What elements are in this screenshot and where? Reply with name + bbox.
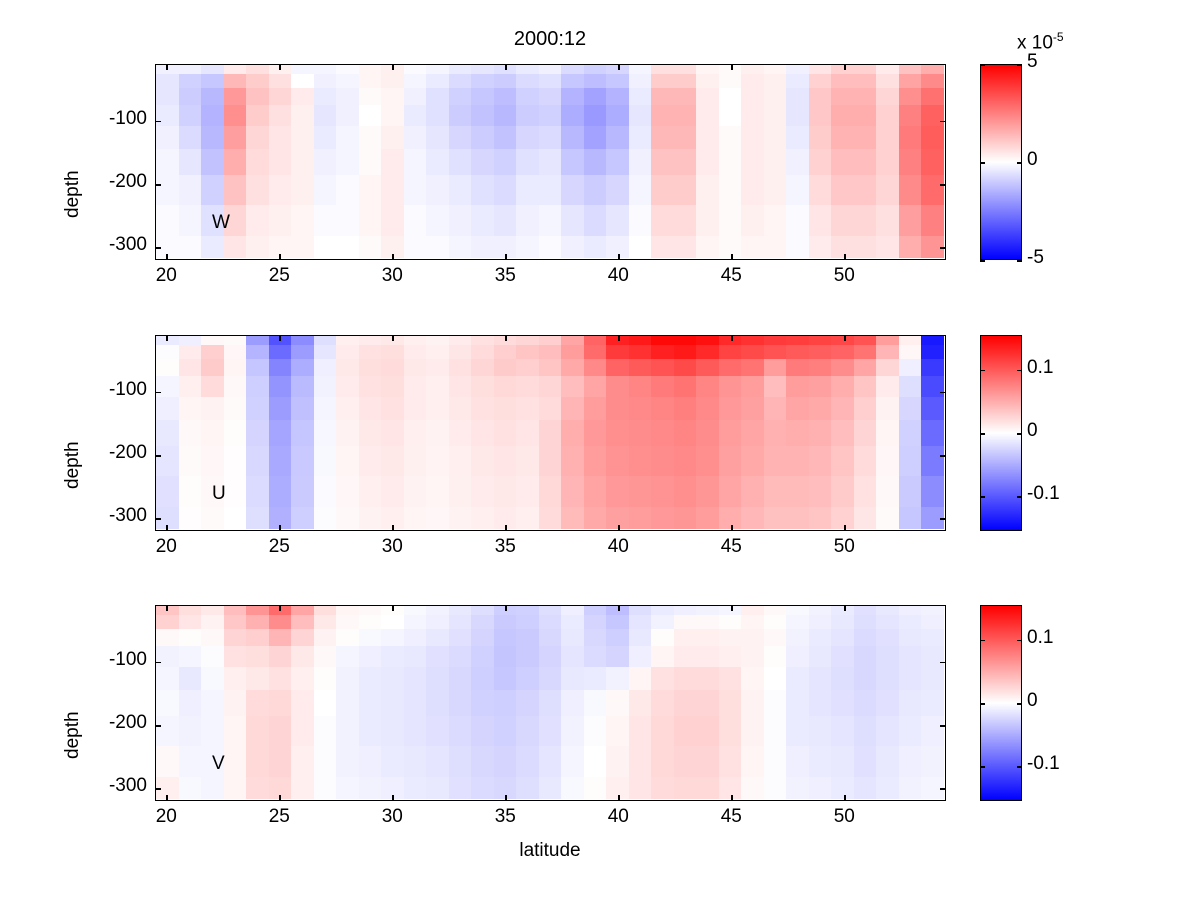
heatmap-cell (449, 359, 472, 377)
heatmap-cell (516, 345, 539, 360)
heatmap-cell (584, 667, 607, 691)
heatmap-cell (561, 646, 584, 667)
heatmap-cell (269, 149, 292, 176)
heatmap-cell (201, 359, 224, 377)
heatmap-cell (629, 446, 652, 476)
heatmap-cell (404, 126, 427, 150)
x-tick-mark (505, 605, 507, 611)
x-tick-mark (392, 525, 394, 531)
heatmap-cell (719, 446, 742, 476)
heatmap-cell (809, 149, 832, 176)
heatmap-cell (156, 175, 179, 205)
heatmap-cell (899, 716, 922, 746)
heatmap-cell (156, 397, 179, 421)
heatmap-cell (764, 507, 787, 529)
heatmap-cell (764, 236, 787, 258)
panel-u-plot-area[interactable]: U (155, 335, 946, 531)
heatmap-cell (179, 716, 202, 746)
heatmap-cell (471, 359, 494, 377)
heatmap-cell (246, 746, 269, 778)
heatmap-cell (449, 376, 472, 397)
heatmap-cell (179, 345, 202, 360)
heatmap-cell (449, 236, 472, 258)
heatmap-cell (336, 690, 359, 717)
heatmap-cell (359, 615, 382, 630)
heatmap-cell (336, 446, 359, 476)
heatmap-cell (786, 629, 809, 647)
heatmap-cell (156, 88, 179, 106)
heatmap-cell (651, 777, 674, 799)
heatmap-cell (359, 126, 382, 150)
colorbar-u[interactable] (980, 335, 1022, 531)
heatmap-cell (269, 205, 292, 237)
heatmap-cell (539, 690, 562, 717)
x-tick-mark (392, 335, 394, 341)
heatmap-cell (246, 646, 269, 667)
heatmap-cell (224, 746, 247, 778)
heatmap-cell (719, 175, 742, 205)
heatmap-cell (719, 345, 742, 360)
heatmap-cell (314, 376, 337, 397)
colorbar-tick-mark (1017, 370, 1022, 372)
heatmap-cell (336, 376, 359, 397)
heatmap-cell (696, 420, 719, 447)
heatmap-cell (719, 476, 742, 508)
heatmap-cell (741, 667, 764, 691)
heatmap-cell (629, 690, 652, 717)
heatmap-cell (831, 690, 854, 717)
heatmap-cell (831, 105, 854, 126)
heatmap-cell (921, 716, 944, 746)
heatmap-cell (696, 88, 719, 106)
heatmap-cell (854, 629, 877, 647)
heatmap-cell (381, 205, 404, 237)
colorbar-tick-mark (1017, 162, 1022, 164)
heatmap-cell (764, 746, 787, 778)
heatmap-cell (741, 777, 764, 799)
heatmap-cell (224, 397, 247, 421)
colorbar-tick-label: 0.1 (1027, 627, 1053, 649)
heatmap-cell (921, 420, 944, 447)
heatmap-cell (314, 149, 337, 176)
x-tick-mark (392, 64, 394, 70)
heatmap-cell (404, 149, 427, 176)
heatmap-cell (494, 376, 517, 397)
heatmap-cell (516, 420, 539, 447)
heatmap-cell (651, 646, 674, 667)
heatmap-cell (899, 175, 922, 205)
heatmap-cell (201, 126, 224, 150)
heatmap-cell (156, 420, 179, 447)
x-tick-label: 50 (804, 536, 884, 558)
heatmap-cell (314, 88, 337, 106)
heatmap-cell (314, 690, 337, 717)
heatmap-cell (606, 126, 629, 150)
y-tick-mark (155, 455, 161, 457)
heatmap-cell (201, 397, 224, 421)
heatmap-cell (584, 345, 607, 360)
heatmap-cell (449, 690, 472, 717)
heatmap-cell (471, 175, 494, 205)
heatmap-cell (179, 476, 202, 508)
heatmap-cell (246, 205, 269, 237)
heatmap-cell (404, 359, 427, 377)
heatmap-cell (359, 74, 382, 89)
heatmap-cell (426, 175, 449, 205)
heatmap-cell (404, 420, 427, 447)
heatmap-cell (854, 420, 877, 447)
heatmap-cell (741, 629, 764, 647)
heatmap-cell (201, 777, 224, 799)
x-tick-mark (505, 254, 507, 260)
heatmap-cell (786, 205, 809, 237)
heatmap-cell (741, 105, 764, 126)
heatmap-cell (741, 359, 764, 377)
heatmap-cell (224, 236, 247, 258)
heatmap-cell (764, 88, 787, 106)
heatmap-cell (719, 716, 742, 746)
heatmap-cell (156, 149, 179, 176)
heatmap-cell (516, 359, 539, 377)
heatmap-cell (404, 205, 427, 237)
colorbar-w[interactable] (980, 64, 1022, 260)
heatmap-cell (426, 446, 449, 476)
heatmap-cell (336, 105, 359, 126)
heatmap-cell (494, 345, 517, 360)
heatmap-cell (674, 615, 697, 630)
heatmap-cell (449, 777, 472, 799)
colorbar-tick-label: 5 (1027, 51, 1038, 73)
heatmap-cell (381, 74, 404, 89)
y-tick-mark (155, 392, 161, 394)
heatmap-cell (224, 345, 247, 360)
heatmap-cell (606, 667, 629, 691)
heatmap-cell (719, 646, 742, 667)
heatmap-cell (629, 746, 652, 778)
heatmap-cell (629, 507, 652, 529)
heatmap-cell (674, 420, 697, 447)
heatmap-cell (584, 476, 607, 508)
heatmap-cell (516, 615, 539, 630)
heatmap-cell (651, 746, 674, 778)
colorbar-tick-mark (1017, 433, 1022, 435)
heatmap-cell (899, 420, 922, 447)
heatmap-cell (696, 446, 719, 476)
heatmap-cell (854, 646, 877, 667)
heatmap-cell (494, 88, 517, 106)
heatmap-cell (314, 205, 337, 237)
heatmap-cell (854, 175, 877, 205)
heatmap-cell (179, 615, 202, 630)
heatmap-cell (696, 205, 719, 237)
heatmap-cell (674, 126, 697, 150)
x-tick-label: 30 (352, 536, 432, 558)
heatmap-cell (314, 420, 337, 447)
heatmap-cell (291, 88, 314, 106)
heatmap-cell (651, 345, 674, 360)
heatmap-cell (494, 615, 517, 630)
heatmap-cell (741, 236, 764, 258)
heatmap-cell (921, 205, 944, 237)
heatmap-cell (674, 175, 697, 205)
y-tick-label: -200 (47, 442, 147, 464)
heatmap-cell (696, 507, 719, 529)
heatmap-cell (809, 446, 832, 476)
colorbar-tick-mark (1017, 260, 1022, 262)
heatmap-cell (786, 359, 809, 377)
heatmap-cell (831, 667, 854, 691)
heatmap-cell (809, 629, 832, 647)
heatmap-cell (786, 646, 809, 667)
heatmap-cell (471, 126, 494, 150)
heatmap-cell (156, 205, 179, 237)
panel-v-plot-area[interactable]: V (155, 605, 946, 801)
heatmap-cell (561, 376, 584, 397)
heatmap-cell (426, 126, 449, 150)
y-tick-label: -300 (47, 234, 147, 256)
heatmap-cell (494, 667, 517, 691)
heatmap-cell (584, 446, 607, 476)
heatmap-cell (336, 74, 359, 89)
heatmap-cell (629, 345, 652, 360)
colorbar-gradient-v (981, 606, 1021, 800)
heatmap-cell (314, 359, 337, 377)
heatmap-cell (224, 716, 247, 746)
heatmap-cell (854, 105, 877, 126)
heatmap-cell (539, 345, 562, 360)
heatmap-cell (584, 629, 607, 647)
heatmap-cell (719, 376, 742, 397)
colorbar-tick-label: 0 (1027, 149, 1038, 171)
heatmap-cell (561, 397, 584, 421)
heatmap-cell (809, 690, 832, 717)
heatmap-cell (314, 105, 337, 126)
heatmap-cell (291, 345, 314, 360)
heatmap-cell (246, 126, 269, 150)
heatmap-cell (921, 345, 944, 360)
heatmap-cell (246, 397, 269, 421)
heatmap-cell (921, 446, 944, 476)
heatmap-cell (651, 615, 674, 630)
heatmap-cell (156, 74, 179, 89)
heatmap-cell (404, 236, 427, 258)
y-tick-mark (155, 518, 161, 520)
heatmap-cell (156, 629, 179, 647)
heatmap-cell (516, 446, 539, 476)
heatmap-cell (539, 149, 562, 176)
heatmap-cell (426, 716, 449, 746)
heatmap-cell (899, 345, 922, 360)
heatmap-cell (921, 175, 944, 205)
heatmap-cell (246, 446, 269, 476)
heatmap-cell (764, 376, 787, 397)
heatmap-cell (246, 690, 269, 717)
heatmap-cell (696, 345, 719, 360)
heatmap-cell (179, 746, 202, 778)
heatmap-cell (561, 690, 584, 717)
heatmap-cell (404, 667, 427, 691)
x-tick-mark (505, 64, 507, 70)
heatmap-cell (876, 345, 899, 360)
heatmap-cell (449, 746, 472, 778)
heatmap-cell (674, 629, 697, 647)
heatmap-cell (629, 126, 652, 150)
colorbar-gradient-u (981, 336, 1021, 530)
heatmap-cell (426, 105, 449, 126)
heatmap-cell (786, 746, 809, 778)
heatmap-cell (786, 690, 809, 717)
heatmap-cell (876, 88, 899, 106)
x-tick-mark (731, 795, 733, 801)
heatmap-cell (764, 397, 787, 421)
heatmap-cell (381, 397, 404, 421)
heatmap-cell (224, 476, 247, 508)
heatmap-cell (876, 646, 899, 667)
heatmap-cell (449, 345, 472, 360)
heatmap-cell (471, 236, 494, 258)
heatmap-cell (651, 359, 674, 377)
figure-canvas: 2000:12 W depth -100-200-300 20253035404… (0, 0, 1200, 900)
heatmap-cell (921, 376, 944, 397)
heatmap-cell (696, 105, 719, 126)
heatmap-cell (336, 716, 359, 746)
heatmap-cell (629, 615, 652, 630)
heatmap-cell (179, 397, 202, 421)
heatmap-cell (584, 126, 607, 150)
panel-label-v: V (212, 753, 225, 775)
heatmap-cell (719, 667, 742, 691)
heatmap-cell (246, 88, 269, 106)
heatmap-cell (516, 74, 539, 89)
heatmap-cell (741, 690, 764, 717)
y-tick-mark (155, 247, 161, 249)
heatmap-cell (291, 74, 314, 89)
heatmap-cell (899, 615, 922, 630)
heatmap-cell (336, 88, 359, 106)
y-tick-mark (940, 121, 946, 123)
heatmap-cell (539, 629, 562, 647)
heatmap-cell (224, 359, 247, 377)
heatmap-cell (156, 746, 179, 778)
x-tick-label: 25 (239, 806, 319, 828)
heatmap-cell (494, 646, 517, 667)
panel-label-u: U (212, 483, 226, 505)
heatmap-cell (539, 777, 562, 799)
heatmap-cell (764, 446, 787, 476)
heatmap-cell (314, 236, 337, 258)
heatmap-cell (269, 476, 292, 508)
heatmap-cell (179, 690, 202, 717)
heatmap-cell (404, 615, 427, 630)
heatmap-cell (606, 446, 629, 476)
x-tick-label: 25 (239, 265, 319, 287)
heatmap-cell (291, 175, 314, 205)
heatmap-cell (381, 476, 404, 508)
panel-label-w: W (212, 212, 230, 234)
heatmap-cell (809, 359, 832, 377)
colorbar-tick-mark (1017, 703, 1022, 705)
heatmap-cell (786, 397, 809, 421)
heatmap-cell (471, 74, 494, 89)
x-tick-mark (731, 525, 733, 531)
heatmap-cell (786, 236, 809, 258)
colorbar-tick-mark (980, 64, 985, 66)
heatmap-cell (674, 446, 697, 476)
heatmap-cell (359, 446, 382, 476)
heatmap-cell (719, 126, 742, 150)
heatmap-cell (921, 126, 944, 150)
heatmap-cell (336, 397, 359, 421)
heatmap-cell (539, 667, 562, 691)
x-tick-label: 35 (465, 265, 545, 287)
heatmap-cell (246, 476, 269, 508)
heatmap-cell (606, 376, 629, 397)
heatmap-cell (809, 126, 832, 150)
heatmap-cell (696, 476, 719, 508)
heatmap-cell (201, 236, 224, 258)
heatmap-cell (224, 376, 247, 397)
heatmap-cell (246, 376, 269, 397)
heatmap-cell (809, 646, 832, 667)
heatmap-cell (876, 397, 899, 421)
heatmap-cell (224, 175, 247, 205)
heatmap-cell (899, 105, 922, 126)
heatmap-cell (314, 507, 337, 529)
heatmap-cell (539, 746, 562, 778)
heatmap-cell (764, 74, 787, 89)
heatmap-cell (921, 359, 944, 377)
heatmap-cell (899, 397, 922, 421)
heatmap-cell (899, 746, 922, 778)
y-tick-label: -300 (47, 775, 147, 797)
heatmap-cell (719, 690, 742, 717)
panel-w-plot-area[interactable]: W (155, 64, 946, 260)
heatmap-cell (246, 507, 269, 529)
heatmap-cell (404, 175, 427, 205)
heatmap-cell (156, 615, 179, 630)
heatmap-cell (561, 667, 584, 691)
heatmap-cell (404, 476, 427, 508)
x-tick-label: 35 (465, 806, 545, 828)
heatmap-cell (336, 236, 359, 258)
heatmap-cell (809, 420, 832, 447)
heatmap-cell (651, 74, 674, 89)
heatmap-cell (561, 105, 584, 126)
heatmap-cell (764, 690, 787, 717)
heatmap-cell (291, 149, 314, 176)
heatmap-cell (404, 690, 427, 717)
heatmap-cell (831, 149, 854, 176)
heatmap-cell (921, 476, 944, 508)
heatmap-cell (899, 777, 922, 799)
heatmap-cell (269, 105, 292, 126)
heatmap-cell (719, 777, 742, 799)
y-tick-mark (155, 662, 161, 664)
heatmap-cell (336, 345, 359, 360)
heatmap-cell (494, 175, 517, 205)
heatmap-cell (876, 74, 899, 89)
heatmap-cell (314, 74, 337, 89)
heatmap-cell (516, 126, 539, 150)
heatmap-cell (561, 205, 584, 237)
colorbar-v[interactable] (980, 605, 1022, 801)
heatmap-cell (629, 175, 652, 205)
heatmap-cell (876, 359, 899, 377)
heatmap-cell (291, 746, 314, 778)
heatmap-cell (494, 746, 517, 778)
heatmap-cell (719, 397, 742, 421)
heatmap-cell (359, 175, 382, 205)
